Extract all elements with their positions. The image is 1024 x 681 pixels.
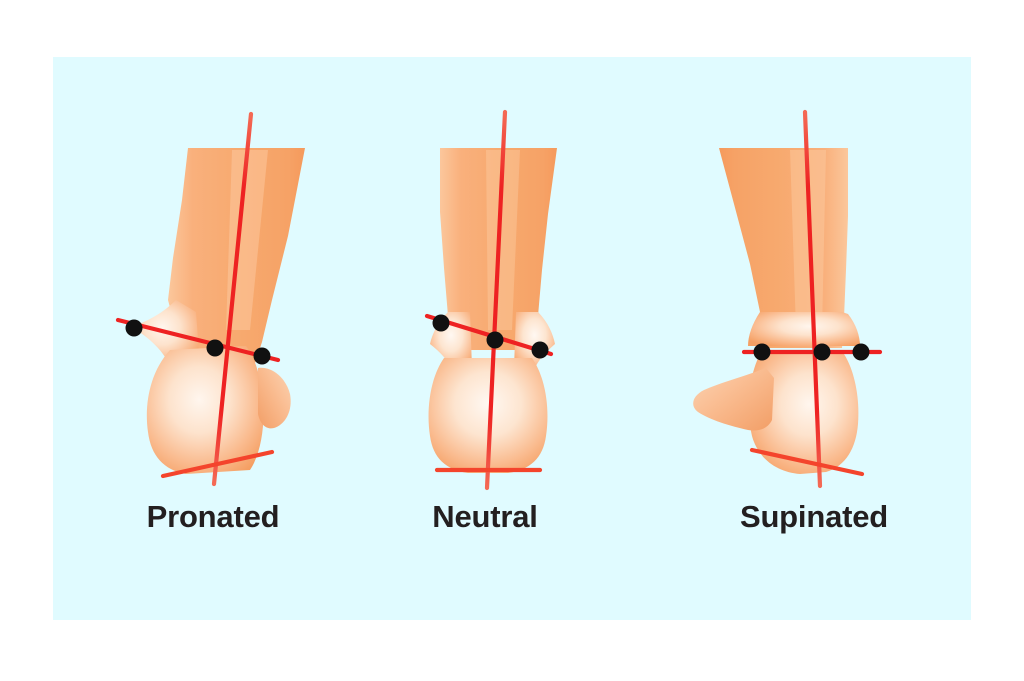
pronated-heel-shape bbox=[147, 346, 264, 474]
pronated-label: Pronated bbox=[147, 499, 280, 534]
supinated-lateral-malleolus-marker bbox=[853, 344, 870, 361]
neutral-medial-malleolus-marker bbox=[433, 315, 450, 332]
supinated-medial-malleolus-marker bbox=[754, 344, 771, 361]
supinated-label: Supinated bbox=[740, 499, 888, 534]
neutral-label: Neutral bbox=[432, 499, 537, 534]
figure-neutral: Neutral bbox=[427, 112, 557, 534]
diagram-root: Pronated Neutral bbox=[0, 0, 1024, 681]
neutral-lateral-malleolus-marker bbox=[532, 342, 549, 359]
foot-posture-diagram: Pronated Neutral bbox=[0, 0, 1024, 681]
neutral-subtalar-joint-marker bbox=[487, 332, 504, 349]
pronated-medial-malleolus-marker bbox=[126, 320, 143, 337]
pronated-subtalar-joint-marker bbox=[207, 340, 224, 357]
supinated-ankle-waist bbox=[748, 312, 860, 346]
pronated-lateral-malleolus-marker bbox=[254, 348, 271, 365]
supinated-subtalar-joint-marker bbox=[814, 344, 831, 361]
